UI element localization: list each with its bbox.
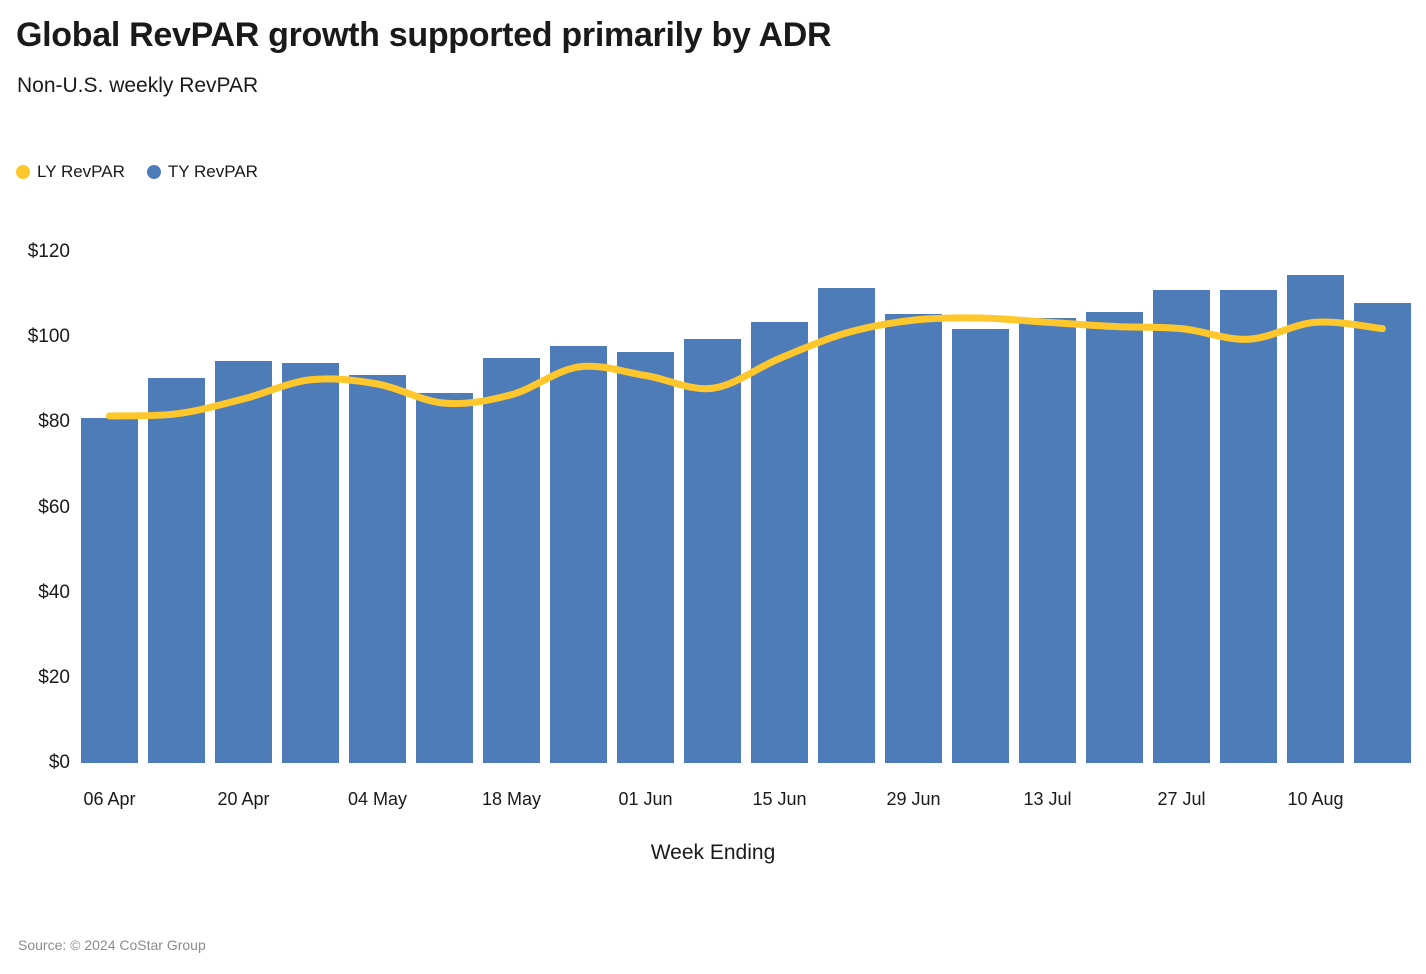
x-axis-tick-label: 15 Jun: [752, 789, 806, 810]
bar[interactable]: [148, 378, 205, 763]
x-axis-tick-label: 18 May: [482, 789, 541, 810]
bar[interactable]: [349, 375, 406, 763]
chart-container: Global RevPAR growth supported primarily…: [0, 0, 1426, 974]
bar[interactable]: [215, 361, 272, 763]
bar[interactable]: [1287, 275, 1344, 763]
x-axis-tick-label: 27 Jul: [1157, 789, 1205, 810]
plot-area: $0$20$40$60$80$100$120 06 Apr20 Apr04 Ma…: [0, 0, 1426, 974]
x-axis-tick-label: 04 May: [348, 789, 407, 810]
x-axis-tick-label: 01 Jun: [618, 789, 672, 810]
bar[interactable]: [1354, 303, 1411, 763]
x-axis-tick-label: 13 Jul: [1023, 789, 1071, 810]
x-axis-tick-label: 06 Apr: [83, 789, 135, 810]
x-axis-title: Week Ending: [0, 841, 1426, 865]
bar[interactable]: [952, 329, 1009, 763]
y-axis-tick-label: $0: [10, 752, 70, 774]
bar[interactable]: [1086, 312, 1143, 763]
source-note: Source: © 2024 CoStar Group: [18, 937, 206, 953]
bar[interactable]: [282, 363, 339, 763]
bar[interactable]: [1220, 290, 1277, 763]
bar[interactable]: [416, 393, 473, 763]
bar[interactable]: [885, 314, 942, 763]
bar[interactable]: [617, 352, 674, 763]
bar[interactable]: [550, 346, 607, 763]
y-axis-tick-label: $100: [10, 326, 70, 348]
bar[interactable]: [1019, 318, 1076, 763]
bar[interactable]: [483, 358, 540, 763]
bar[interactable]: [818, 288, 875, 763]
bar[interactable]: [1153, 290, 1210, 763]
y-axis-tick-label: $60: [10, 497, 70, 519]
bar[interactable]: [751, 322, 808, 763]
x-axis-tick-label: 10 Aug: [1287, 789, 1343, 810]
y-axis: $0$20$40$60$80$100$120: [0, 0, 70, 974]
y-axis-tick-label: $120: [10, 241, 70, 263]
bar[interactable]: [684, 339, 741, 763]
x-axis-tick-label: 29 Jun: [886, 789, 940, 810]
y-axis-tick-label: $80: [10, 411, 70, 433]
y-axis-tick-label: $20: [10, 667, 70, 689]
y-axis-tick-label: $40: [10, 582, 70, 604]
bar[interactable]: [81, 418, 138, 763]
x-axis-tick-label: 20 Apr: [217, 789, 269, 810]
